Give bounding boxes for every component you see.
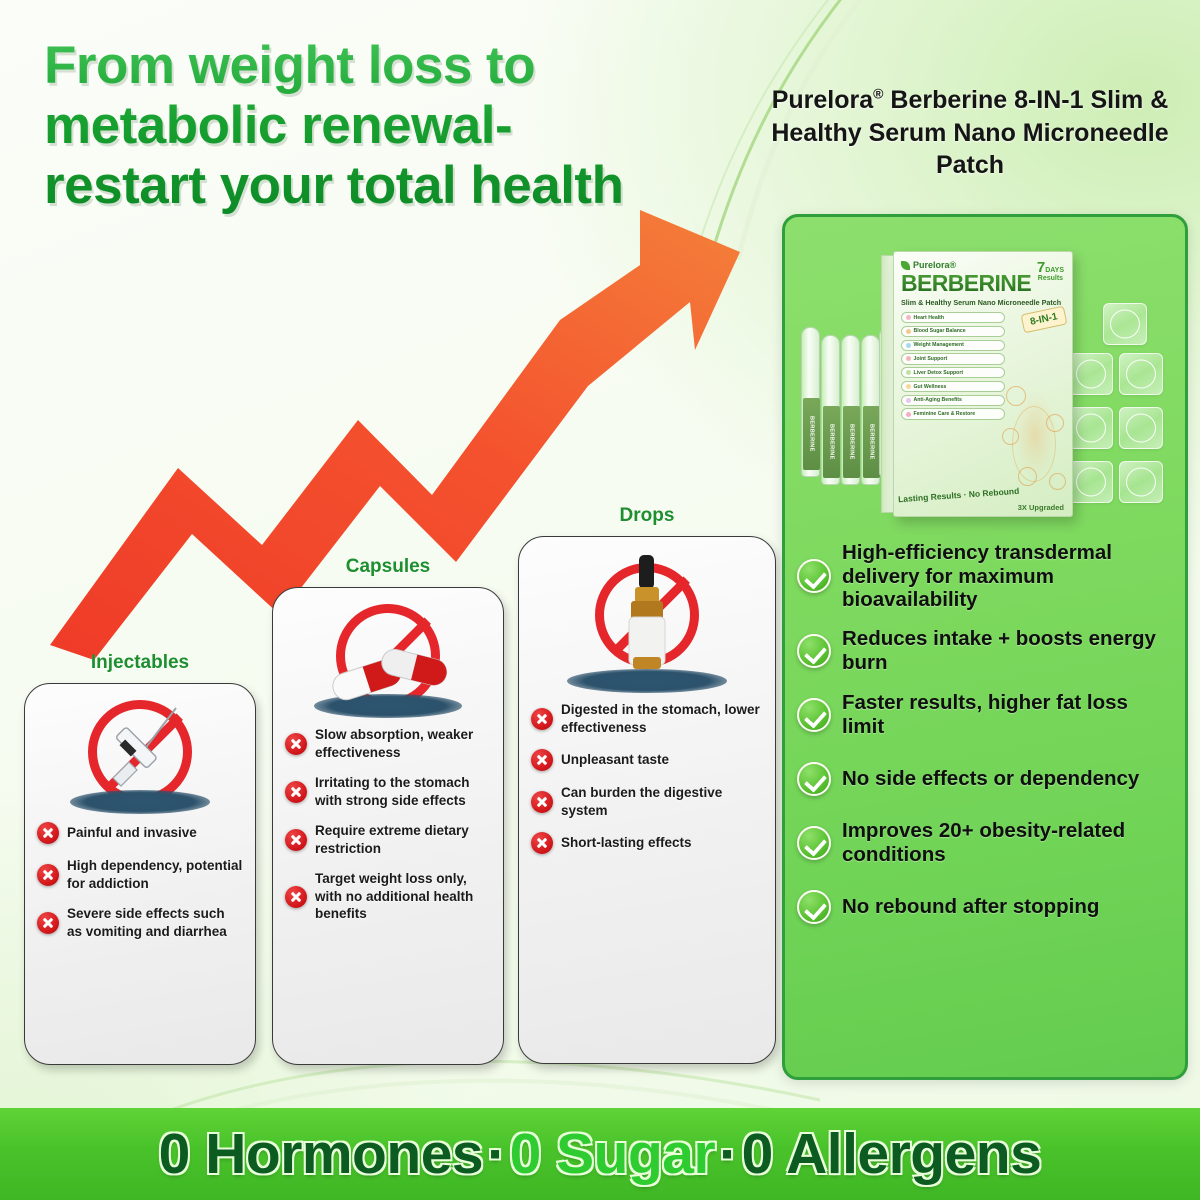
patch-item (1119, 461, 1163, 503)
package-feature-list: Heart Health Blood Sugar Balance Weight … (901, 312, 1005, 420)
benefit-text: No rebound after stopping (842, 895, 1099, 919)
con-text: Unpleasant taste (561, 751, 669, 769)
card-label-drops: Drops (518, 505, 776, 527)
no-capsules-icon (285, 600, 491, 722)
package-feature-pill: Weight Management (901, 340, 1005, 351)
pill-label: Liver Detox Support (914, 370, 964, 376)
product-package-area: BERBERINE BERBERINE BERBERINE BERBERINE … (785, 217, 1185, 535)
cross-icon (37, 864, 59, 886)
badge-lasting-results: Lasting Results · No Rebound (898, 486, 1020, 505)
con-text: Severe side effects such as vomiting and… (67, 905, 243, 940)
check-icon (797, 762, 831, 796)
cross-icon (531, 749, 553, 771)
badge-days-label: DAYS (1045, 267, 1064, 274)
no-injection-icon (37, 696, 243, 818)
list-item: High-efficiency transdermal delivery for… (797, 541, 1171, 612)
pill-label: Heart Health (914, 315, 945, 321)
package-feature-pill: Anti-Aging Benefits (901, 395, 1005, 406)
benefit-text: High-efficiency transdermal delivery for… (842, 541, 1171, 612)
benefits-list: High-efficiency transdermal delivery for… (785, 535, 1185, 932)
cross-icon (531, 708, 553, 730)
product-benefits-panel: BERBERINE BERBERINE BERBERINE BERBERINE … (782, 214, 1188, 1080)
vial-label: BERBERINE (803, 398, 820, 470)
benefit-text: Faster results, higher fat loss limit (842, 691, 1171, 738)
benefit-text: Improves 20+ obesity-related conditions (842, 819, 1171, 866)
pill-label: Gut Wellness (914, 384, 947, 390)
banner-separator: · (719, 1122, 737, 1186)
badge-days-sub: Results (1038, 275, 1063, 282)
con-text: Can burden the digestive system (561, 784, 763, 819)
list-item: Faster results, higher fat loss limit (797, 690, 1171, 740)
no-dropper-icon (531, 549, 763, 697)
comparison-column-capsules: Capsules Slow absorption, weaker e (272, 556, 504, 1065)
card-label-capsules: Capsules (272, 556, 504, 578)
cross-icon (285, 781, 307, 803)
banner-part-allergens: 0 Allergens (742, 1122, 1042, 1186)
banner-separator: · (487, 1122, 505, 1186)
list-item: Require extreme dietary restriction (285, 822, 491, 857)
list-item: Irritating to the stomach with strong si… (285, 774, 491, 809)
package-subtitle: Slim & Healthy Serum Nano Microneedle Pa… (901, 298, 1065, 307)
check-icon (797, 698, 831, 732)
card-injectables: Painful and invasive High dependency, po… (24, 683, 256, 1065)
pill-label: Joint Support (914, 356, 948, 362)
package-brand-text: Purelora® (913, 260, 956, 270)
leaf-icon (901, 261, 910, 270)
badge-7-days-results: 7DAYS Results (1037, 260, 1064, 282)
package-feature-pill: Liver Detox Support (901, 367, 1005, 378)
pill-label: Feminine Care & Restore (914, 411, 976, 417)
badge-8-in-1: 8-IN-1 (1021, 306, 1068, 334)
list-item: Improves 20+ obesity-related conditions (797, 818, 1171, 868)
benefit-text: No side effects or dependency (842, 767, 1139, 791)
check-icon (797, 890, 831, 924)
card-label-injectables: Injectables (24, 652, 256, 674)
list-item: No rebound after stopping (797, 882, 1171, 932)
list-item: Unpleasant taste (531, 749, 763, 771)
vial-label: BERBERINE (823, 406, 840, 478)
comparison-cards: Injectables Painful and invasive High de… (0, 0, 780, 1110)
con-text: Irritating to the stomach with strong si… (315, 774, 491, 809)
vial-label: BERBERINE (843, 406, 860, 478)
list-item: High dependency, potential for addiction (37, 857, 243, 892)
list-item: Digested in the stomach, lower effective… (531, 701, 763, 736)
benefit-text: Reduces intake + boosts energy burn (842, 627, 1171, 674)
patch-item (1119, 407, 1163, 449)
patch-item (1069, 353, 1113, 395)
package-feature-pill: Blood Sugar Balance (901, 326, 1005, 337)
patch-item (1069, 461, 1113, 503)
microneedle-patches (1073, 303, 1179, 529)
cross-icon (531, 791, 553, 813)
con-text: Slow absorption, weaker effectiveness (315, 726, 491, 761)
con-text: High dependency, potential for addiction (67, 857, 243, 892)
con-text: Digested in the stomach, lower effective… (561, 701, 763, 736)
badge-days-number: 7 (1037, 260, 1045, 275)
serum-ampoules: BERBERINE BERBERINE BERBERINE BERBERINE … (799, 313, 891, 513)
cons-list-capsules: Slow absorption, weaker effectiveness Ir… (285, 726, 491, 923)
con-text: Target weight loss only, with no additio… (315, 870, 491, 923)
check-icon (797, 634, 831, 668)
bottom-banner: 0 Hormones·0 Sugar·0 Allergens (0, 1108, 1200, 1200)
cons-list-injectables: Painful and invasive High dependency, po… (37, 822, 243, 940)
list-item: Target weight loss only, with no additio… (285, 870, 491, 923)
package-feature-pill: Heart Health (901, 312, 1005, 323)
banner-text: 0 Hormones·0 Sugar·0 Allergens (159, 1121, 1042, 1187)
list-item: Short-lasting effects (531, 832, 763, 854)
body-silhouette-graphic (1002, 380, 1066, 490)
comparison-column-drops: Drops Digested in the stomach, lower eff… (518, 505, 776, 1064)
cross-icon (37, 912, 59, 934)
cross-icon (285, 733, 307, 755)
cons-list-drops: Digested in the stomach, lower effective… (531, 701, 763, 854)
list-item: No side effects or dependency (797, 754, 1171, 804)
pill-label: Blood Sugar Balance (914, 328, 966, 334)
check-icon (797, 559, 831, 593)
list-item: Severe side effects such as vomiting and… (37, 905, 243, 940)
con-text: Require extreme dietary restriction (315, 822, 491, 857)
pill-label: Anti-Aging Benefits (914, 397, 962, 403)
check-icon (797, 826, 831, 860)
banner-part-hormones: 0 Hormones (159, 1122, 483, 1186)
cross-icon (285, 886, 307, 908)
product-brand: Purelora (772, 86, 873, 114)
package-feature-pill: Joint Support (901, 353, 1005, 364)
list-item: Slow absorption, weaker effectiveness (285, 726, 491, 761)
cross-icon (37, 822, 59, 844)
con-text: Short-lasting effects (561, 834, 692, 852)
list-item: Painful and invasive (37, 822, 243, 844)
vial-label: BERBERINE (863, 406, 880, 478)
package-feature-pill: Gut Wellness (901, 381, 1005, 392)
cross-icon (531, 832, 553, 854)
list-item: Reduces intake + boosts energy burn (797, 626, 1171, 676)
card-drops: Digested in the stomach, lower effective… (518, 536, 776, 1064)
product-box: Purelora® BERBERINE Slim & Healthy Serum… (893, 251, 1073, 517)
card-capsules: Slow absorption, weaker effectiveness Ir… (272, 587, 504, 1065)
package-feature-pill: Feminine Care & Restore (901, 408, 1005, 419)
banner-part-sugar: 0 Sugar (510, 1122, 716, 1186)
trademark-symbol: ® (873, 86, 883, 102)
comparison-column-injectables: Injectables Painful and invasive High de… (24, 652, 256, 1065)
list-item: Can burden the digestive system (531, 784, 763, 819)
product-title: Purelora® Berberine 8-IN-1 Slim & Health… (760, 84, 1180, 182)
cross-icon (285, 829, 307, 851)
con-text: Painful and invasive (67, 824, 197, 842)
patch-item (1103, 303, 1147, 345)
pill-label: Weight Management (914, 342, 964, 348)
badge-3x-upgraded: 3X Upgraded (1018, 503, 1064, 512)
patch-item (1119, 353, 1163, 395)
patch-item (1069, 407, 1113, 449)
